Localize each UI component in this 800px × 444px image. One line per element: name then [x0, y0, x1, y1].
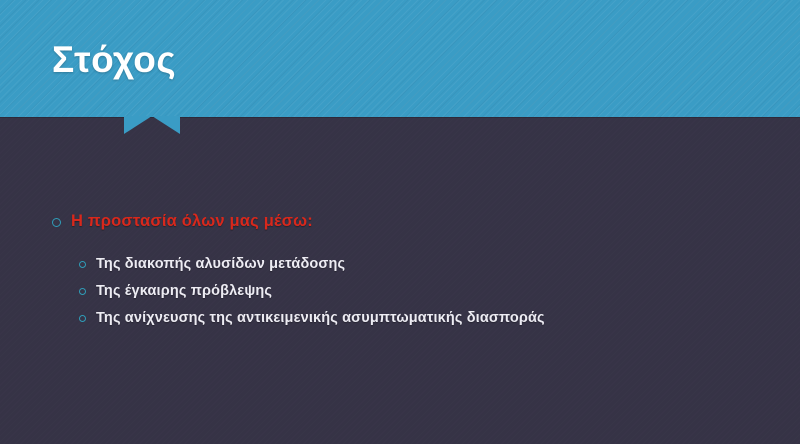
circle-ring-bullet-icon — [79, 261, 86, 268]
presentation-slide: Στόχος Η προστασία όλων μας μέσω: Της δι… — [0, 0, 800, 444]
bullet-text-level2: Της έγκαιρης πρόβλεψης — [96, 282, 272, 300]
bullet-text-level1: Η προστασία όλων μας μέσω: — [71, 211, 313, 231]
bullet-text-level2: Της ανίχνευσης της αντικειμενικής ασυμπτ… — [96, 309, 545, 327]
list-item: Της έγκαιρης πρόβλεψης — [79, 277, 545, 304]
list-item: Της ανίχνευσης της αντικειμενικής ασυμπτ… — [79, 304, 545, 331]
list-item: Η προστασία όλων μας μέσω: — [52, 211, 313, 231]
slide-content: Η προστασία όλων μας μέσω: Της διακοπής … — [0, 0, 800, 444]
circle-ring-bullet-icon — [79, 315, 86, 322]
sub-bullet-list: Της διακοπής αλυσίδων μετάδοσης Της έγκα… — [79, 250, 545, 331]
bullet-text-level2: Της διακοπής αλυσίδων μετάδοσης — [96, 255, 345, 273]
circle-ring-bullet-icon — [79, 288, 86, 295]
list-item: Της διακοπής αλυσίδων μετάδοσης — [79, 250, 545, 277]
circle-ring-bullet-icon — [52, 218, 61, 227]
